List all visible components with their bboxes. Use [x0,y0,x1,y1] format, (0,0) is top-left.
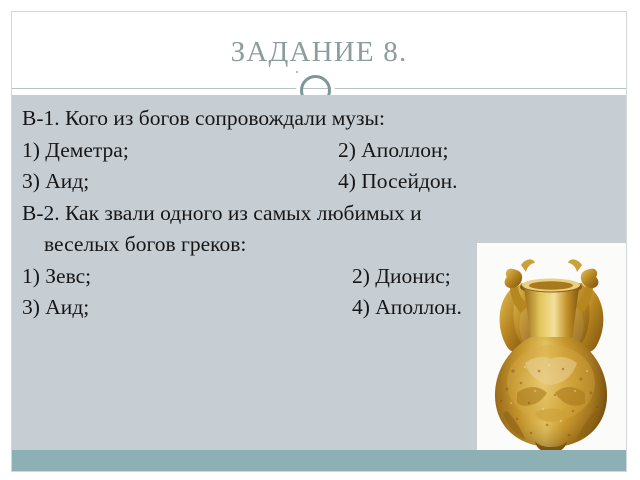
golden-amphora-vase-image [477,243,626,455]
question-1-options-row-2: 3) Аид; 4) Посейдон. [22,166,622,198]
question-2-option-2[interactable]: 2) Дионис; [352,261,451,293]
question-2-prompt-line-1: В-2. Как звали одного из самых любимых и [22,198,622,230]
question-1-options-row-1: 1) Деметра; 2) Аполлон; [22,135,622,167]
vase-figure [477,243,626,455]
slide-canvas: ЗАДАНИЕ 8. В-1. Кого из богов сопровожда… [0,0,640,480]
question-1-option-1[interactable]: 1) Деметра; [22,135,129,167]
page-title: ЗАДАНИЕ 8. [12,36,626,69]
question-1-option-3[interactable]: 3) Аид; [22,166,89,198]
question-1-prompt: В-1. Кого из богов сопровождали музы: [22,103,622,135]
bottom-accent-bar [12,450,626,471]
ring-dot-top-left-icon [296,71,298,73]
question-1-option-2[interactable]: 2) Аполлон; [338,135,448,167]
question-2-option-4[interactable]: 4) Аполлон. [352,292,462,324]
question-2-option-3[interactable]: 3) Аид; [22,292,89,324]
question-2-option-1[interactable]: 1) Зевс; [22,261,91,293]
question-1-option-4[interactable]: 4) Посейдон. [338,166,458,198]
